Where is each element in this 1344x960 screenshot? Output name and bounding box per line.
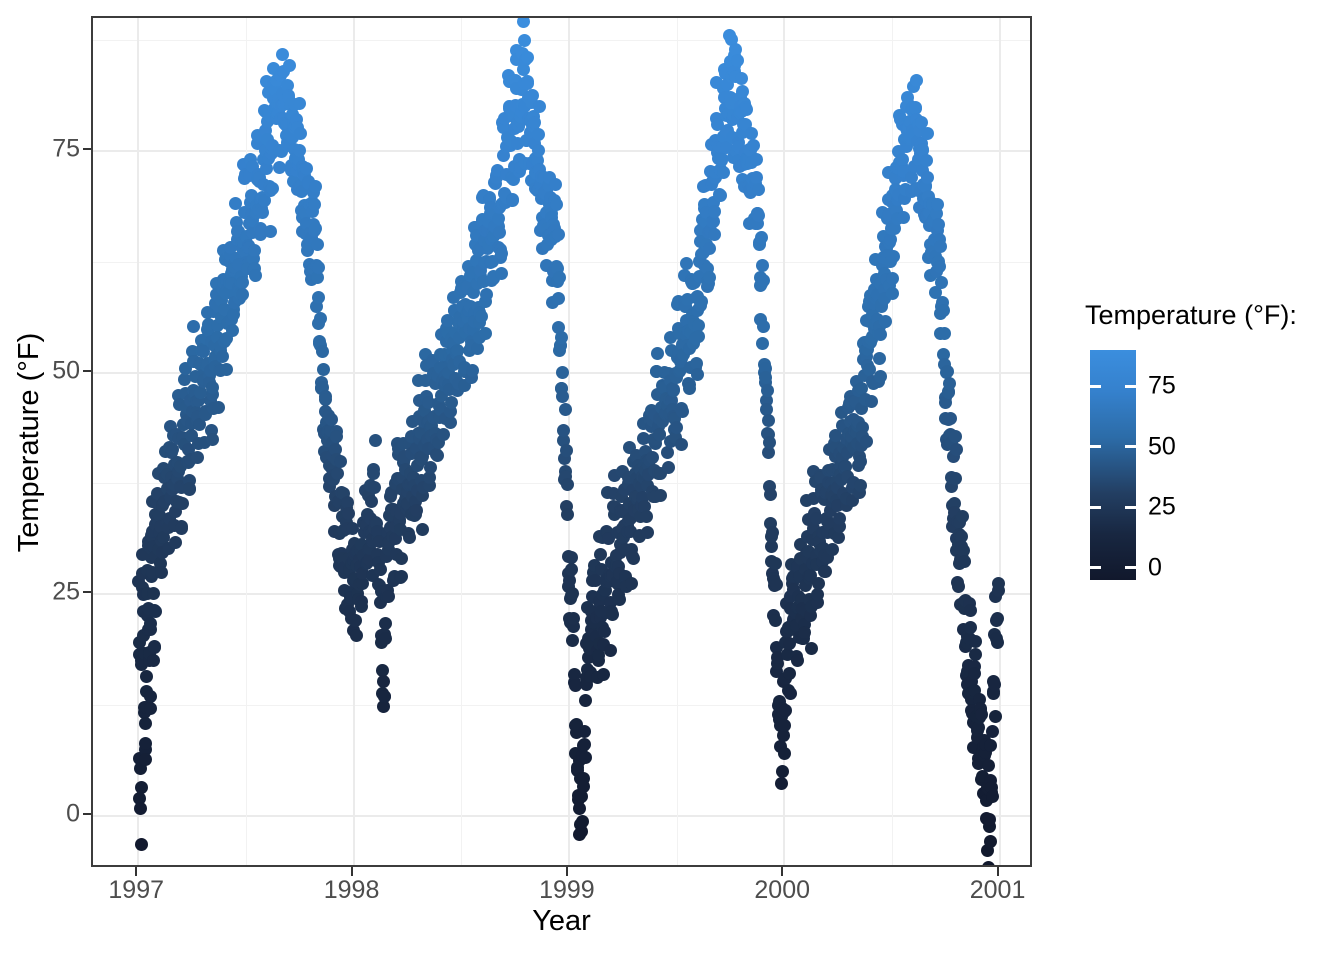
scatter-point	[395, 570, 408, 583]
scatter-point	[135, 838, 148, 851]
grid-major-vertical	[353, 18, 355, 865]
scatter-point	[139, 717, 152, 730]
x-axis-tick-mark	[351, 867, 353, 876]
scatter-point	[220, 363, 233, 376]
scatter-point	[937, 304, 950, 317]
plot-panel	[91, 16, 1032, 867]
scatter-point	[256, 206, 269, 219]
scatter-point	[266, 182, 279, 195]
legend-tick-mark	[1090, 506, 1101, 509]
scatter-point	[155, 566, 168, 579]
scatter-point	[708, 205, 721, 218]
scatter-point	[779, 704, 792, 717]
scatter-point	[757, 320, 770, 333]
scatter-point	[662, 461, 675, 474]
scatter-point	[944, 412, 957, 425]
scatter-point	[762, 414, 775, 427]
scatter-point	[176, 497, 189, 510]
scatter-point	[992, 577, 1005, 590]
scatter-point	[227, 308, 240, 321]
legend-tick-mark	[1125, 385, 1136, 388]
scatter-point	[991, 636, 1004, 649]
scatter-point	[641, 526, 654, 539]
scatter-point	[431, 449, 444, 462]
scatter-point	[651, 347, 664, 360]
x-axis-tick-label: 2001	[970, 876, 1026, 905]
scatter-point	[935, 276, 948, 289]
scatter-point	[553, 271, 566, 284]
scatter-point	[293, 144, 306, 157]
scatter-point	[613, 593, 626, 606]
scatter-point	[958, 555, 971, 568]
scatter-point	[931, 198, 944, 211]
scatter-point	[670, 421, 683, 434]
scatter-point	[445, 396, 458, 409]
scatter-point	[756, 337, 769, 350]
legend-tick-mark	[1090, 445, 1101, 448]
scatter-point	[991, 612, 1004, 625]
scatter-point	[757, 274, 770, 287]
scatter-point	[144, 702, 157, 715]
scatter-point	[377, 675, 390, 688]
scatter-point	[135, 781, 148, 794]
scatter-point	[680, 257, 693, 270]
scatter-point	[532, 128, 545, 141]
scatter-point	[557, 424, 570, 437]
legend-colorbar	[1090, 350, 1136, 580]
scatter-point	[708, 228, 721, 241]
scatter-point	[206, 433, 219, 446]
scatter-point	[576, 815, 589, 828]
scatter-point	[884, 233, 897, 246]
scatter-point	[692, 330, 705, 343]
scatter-point	[579, 751, 592, 764]
y-axis-tick-label: 75	[20, 134, 80, 163]
scatter-point	[294, 127, 307, 140]
scatter-point	[805, 642, 818, 655]
scatter-point	[943, 377, 956, 390]
scatter-point	[325, 413, 338, 426]
scatter-point	[756, 259, 769, 272]
legend-tick-mark	[1090, 385, 1101, 388]
scatter-point	[283, 59, 296, 72]
scatter-point	[367, 467, 380, 480]
scatter-point	[311, 238, 324, 251]
y-axis-tick-label: 50	[20, 356, 80, 385]
x-axis-tick-label: 1998	[324, 876, 380, 905]
scatter-point	[317, 363, 330, 376]
scatter-point	[475, 310, 488, 323]
x-axis-tick-mark	[781, 867, 783, 876]
scatter-point	[783, 667, 796, 680]
scatter-point	[934, 240, 947, 253]
scatter-point	[949, 430, 962, 443]
scatter-point	[778, 719, 791, 732]
scatter-point	[249, 269, 262, 282]
scatter-point	[506, 194, 519, 207]
x-axis-tick-mark	[566, 867, 568, 876]
scatter-point	[975, 708, 988, 721]
scatter-point	[717, 166, 730, 179]
scatter-point	[984, 739, 997, 752]
scatter-point	[533, 100, 546, 113]
scatter-point	[640, 510, 653, 523]
scatter-point	[248, 244, 261, 257]
scatter-point	[236, 288, 249, 301]
scatter-point	[495, 267, 508, 280]
scatter-point	[703, 242, 716, 255]
scatter-point	[956, 510, 969, 523]
grid-major-horizontal	[93, 150, 1030, 152]
scatter-point	[312, 261, 325, 274]
scatter-point	[625, 577, 638, 590]
scatter-point	[312, 291, 325, 304]
scatter-point	[316, 345, 329, 358]
scatter-point	[334, 455, 347, 468]
scatter-point	[561, 478, 574, 491]
scatter-point	[565, 563, 578, 576]
scatter-point	[556, 366, 569, 379]
scatter-point	[175, 522, 188, 535]
scatter-point	[886, 287, 899, 300]
scatter-point	[747, 139, 760, 152]
scatter-point	[212, 401, 225, 414]
scatter-point	[703, 271, 716, 284]
scatter-point	[873, 352, 886, 365]
scatter-point	[331, 467, 344, 480]
scatter-point	[860, 435, 873, 448]
scatter-point	[984, 835, 997, 848]
scatter-point	[495, 247, 508, 260]
legend-tick-mark	[1125, 445, 1136, 448]
scatter-point	[897, 211, 910, 224]
scatter-point	[755, 231, 768, 244]
scatter-point	[517, 16, 530, 28]
scatter-point	[561, 508, 574, 521]
scatter-point	[791, 654, 804, 667]
scatter-point	[988, 678, 1001, 691]
scatter-point	[769, 614, 782, 627]
scatter-point	[144, 690, 157, 703]
scatter-point	[763, 436, 776, 449]
scatter-point	[528, 116, 541, 129]
scatter-point	[761, 384, 774, 397]
scatter-point	[736, 85, 749, 98]
scatter-point	[982, 759, 995, 772]
scatter-point	[308, 198, 321, 211]
scatter-point	[369, 434, 382, 447]
scatter-point	[676, 405, 689, 418]
scatter-point	[149, 605, 162, 618]
legend-tick-label: 25	[1148, 493, 1176, 522]
scatter-point	[714, 189, 727, 202]
legend-tick-mark	[1125, 566, 1136, 569]
scatter-point	[819, 565, 832, 578]
scatter-point	[778, 747, 791, 760]
scatter-point	[950, 443, 963, 456]
scatter-point	[187, 320, 200, 333]
scatter-point	[169, 536, 182, 549]
grid-minor-vertical	[892, 18, 893, 865]
scatter-point	[140, 670, 153, 683]
x-axis-tick-label: 1999	[539, 876, 595, 905]
x-axis-tick-label: 2000	[754, 876, 810, 905]
scatter-point	[784, 687, 797, 700]
scatter-point	[309, 180, 322, 193]
scatter-point	[986, 725, 999, 738]
scatter-point	[964, 604, 977, 617]
scatter-point	[654, 489, 667, 502]
scatter-point	[968, 667, 981, 680]
scatter-point	[577, 780, 590, 793]
scatter-point	[573, 802, 586, 815]
scatter-point	[236, 276, 249, 289]
scatter-point	[865, 395, 878, 408]
y-axis-tick-label: 25	[20, 578, 80, 607]
scatter-point	[560, 444, 573, 457]
scatter-point	[300, 162, 313, 175]
scatter-point	[874, 328, 887, 341]
scatter-point	[382, 590, 395, 603]
scatter-point	[969, 635, 982, 648]
scatter-point	[874, 370, 887, 383]
scatter-point	[745, 127, 758, 140]
scatter-point	[518, 34, 531, 47]
legend-tick-mark	[1125, 506, 1136, 509]
scatter-point	[147, 587, 160, 600]
scatter-point	[691, 368, 704, 381]
scatter-point	[471, 342, 484, 355]
scatter-point	[695, 295, 708, 308]
scatter-point	[374, 563, 387, 576]
scatter-point	[368, 481, 381, 494]
x-axis-title: Year	[91, 905, 1032, 938]
scatter-point	[661, 446, 674, 459]
y-axis-tick-labels: 0255075	[20, 0, 80, 960]
scatter-point	[437, 428, 450, 441]
x-axis-tick-mark	[135, 867, 137, 876]
scatter-point	[887, 250, 900, 263]
scatter-point	[740, 103, 753, 116]
scatter-point	[752, 183, 765, 196]
scatter-point	[598, 625, 611, 638]
scatter-point	[134, 802, 147, 815]
scatter-point	[350, 629, 363, 642]
scatter-point	[606, 608, 619, 621]
legend-title: Temperature (°F):	[1085, 300, 1297, 331]
scatter-point	[559, 403, 572, 416]
scatter-point	[403, 531, 416, 544]
scatter-point	[566, 587, 579, 600]
scatter-point	[941, 365, 954, 378]
scatter-point	[552, 228, 565, 241]
scatter-point	[191, 451, 204, 464]
scatter-point	[379, 632, 392, 645]
scatter-point	[578, 725, 591, 738]
legend-tick-label: 50	[1148, 432, 1176, 461]
scatter-point	[549, 178, 562, 191]
grid-major-vertical	[137, 18, 139, 865]
scatter-point	[493, 226, 506, 239]
scatter-point	[604, 644, 617, 657]
scatter-point	[776, 765, 789, 778]
scatter-point	[826, 543, 839, 556]
scatter-point	[735, 72, 748, 85]
scatter-point	[920, 154, 933, 167]
scatter-point	[416, 523, 429, 536]
x-axis-tick-mark	[997, 867, 999, 876]
grid-major-vertical	[999, 18, 1001, 865]
scatter-point	[982, 861, 995, 867]
scatter-point	[646, 451, 659, 464]
scatter-point	[365, 495, 378, 508]
scatter-point	[683, 382, 696, 395]
scatter-point	[879, 315, 892, 328]
scatter-point	[264, 225, 277, 238]
scatter-point	[969, 648, 982, 661]
scatter-point	[833, 512, 846, 525]
grid-minor-horizontal	[93, 40, 1030, 41]
scatter-point	[986, 790, 999, 803]
scatter-point	[750, 171, 763, 184]
scatter-point	[550, 198, 563, 211]
scatter-point	[769, 557, 782, 570]
scatter-point	[770, 578, 783, 591]
scatter-point	[764, 488, 777, 501]
scatter-point	[812, 577, 825, 590]
legend-tick-label: 75	[1148, 372, 1176, 401]
chart-root: Temperature (°F) 0255075 199719981999200…	[0, 0, 1344, 960]
scatter-point	[938, 327, 951, 340]
scatter-point	[466, 364, 479, 377]
scatter-point	[910, 74, 923, 87]
scatter-point	[226, 324, 239, 337]
scatter-point	[521, 51, 534, 64]
scatter-point	[933, 260, 946, 273]
grid-minor-horizontal	[93, 705, 1030, 706]
scatter-point	[932, 218, 945, 231]
scatter-point	[731, 54, 744, 67]
scatter-point	[349, 614, 362, 627]
scatter-point	[532, 144, 545, 157]
scatter-point	[886, 272, 899, 285]
scatter-point	[555, 331, 568, 344]
scatter-point	[147, 654, 160, 667]
scatter-point	[552, 292, 565, 305]
scatter-point	[964, 621, 977, 634]
x-axis-tick-label: 1997	[108, 876, 164, 905]
scatter-point	[775, 777, 788, 790]
scatter-point	[379, 617, 392, 630]
scatter-point	[166, 443, 179, 456]
grid-major-horizontal	[93, 593, 1030, 595]
scatter-point	[921, 127, 934, 140]
scatter-point	[330, 430, 343, 443]
scatter-point	[139, 753, 152, 766]
legend-tick-label: 0	[1148, 553, 1162, 582]
scatter-point	[627, 552, 640, 565]
scatter-point	[578, 738, 591, 751]
scatter-point	[378, 690, 391, 703]
grid-minor-vertical	[246, 18, 247, 865]
scatter-point	[566, 634, 579, 647]
scatter-point	[319, 393, 332, 406]
scatter-point	[424, 461, 437, 474]
grid-minor-vertical	[461, 18, 462, 865]
scatter-point	[293, 97, 306, 110]
legend-tick-mark	[1090, 566, 1101, 569]
scatter-point	[952, 580, 965, 593]
scatter-point	[216, 350, 229, 363]
scatter-point	[750, 153, 763, 166]
scatter-point	[854, 455, 867, 468]
scatter-point	[395, 552, 408, 565]
scatter-point	[355, 600, 368, 613]
scatter-point	[479, 327, 492, 340]
scatter-point	[314, 312, 327, 325]
y-axis-tick-label: 0	[20, 799, 80, 828]
grid-major-horizontal	[93, 815, 1030, 817]
scatter-point	[597, 668, 610, 681]
scatter-point	[921, 171, 934, 184]
scatter-point	[675, 438, 688, 451]
scatter-point	[989, 710, 1002, 723]
